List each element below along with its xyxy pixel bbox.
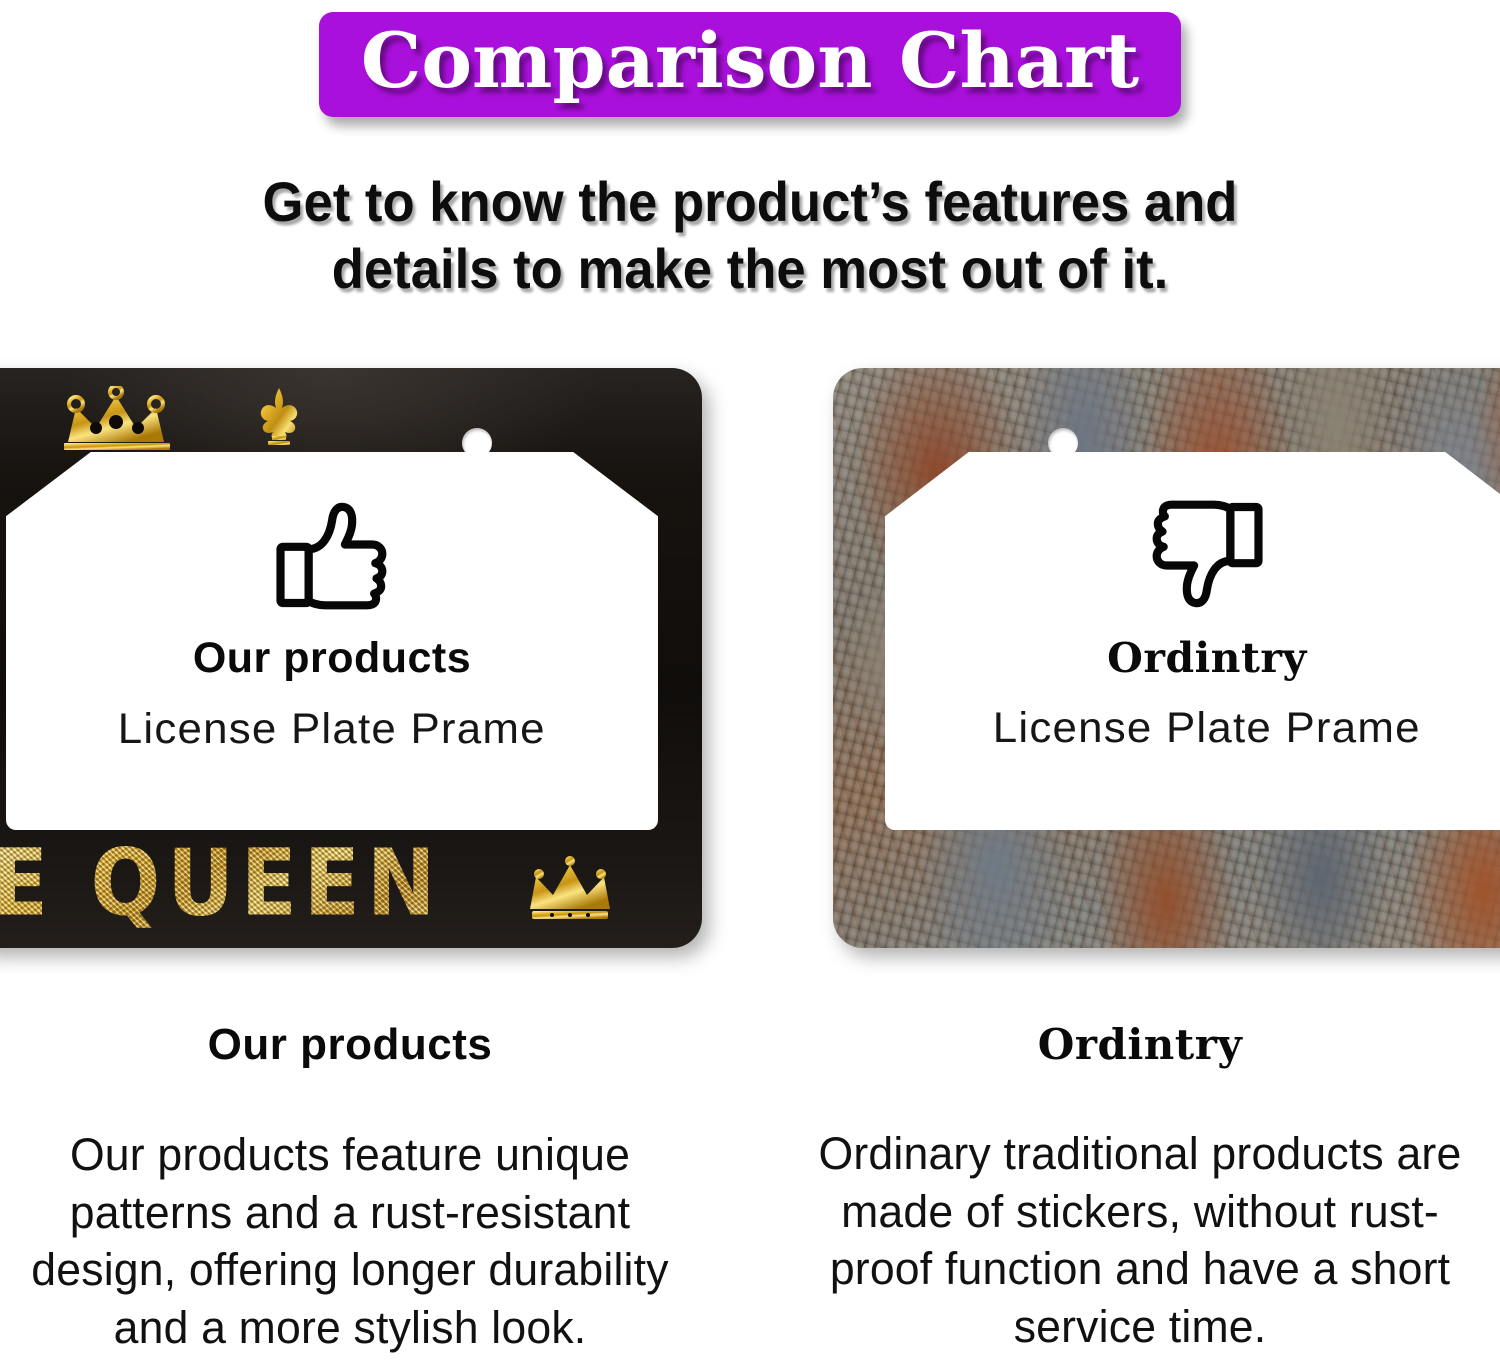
gold-ornament-row bbox=[0, 386, 702, 448]
product-frames-row: Our products License Plate Prame E QUEEN bbox=[0, 368, 1500, 958]
queen-text-band: E QUEEN bbox=[0, 840, 702, 936]
right-description-column: Ordintry Ordinary traditional products a… bbox=[790, 1020, 1490, 1355]
frame-surface-rust: Ordintry License Plate Prame bbox=[833, 368, 1500, 948]
crown-icon bbox=[50, 386, 200, 452]
title-banner-wrap: Comparison Chart bbox=[0, 12, 1500, 117]
descriptions-row: Our products Our products feature unique… bbox=[0, 1020, 1500, 1364]
left-window-title: Our products bbox=[193, 634, 471, 683]
license-plate-window-left: Our products License Plate Prame bbox=[6, 452, 658, 830]
our-product-frame: Our products License Plate Prame E QUEEN bbox=[0, 368, 702, 948]
fleur-de-lis-icon bbox=[0, 386, 10, 448]
subtitle-line-1: Get to know the product’s features and bbox=[263, 170, 1238, 233]
thumbs-up-icon bbox=[273, 500, 391, 610]
right-window-subtitle: License Plate Prame bbox=[993, 704, 1421, 753]
ordinary-product-frame: Ordintry License Plate Prame bbox=[833, 368, 1500, 948]
subtitle-line-2: details to make the most out of it. bbox=[45, 235, 1455, 302]
comparison-chart-page: Comparison Chart Get to know the product… bbox=[0, 0, 1500, 1364]
frame-brand-text: E QUEEN bbox=[0, 838, 443, 930]
page-subtitle: Get to know the product’s features and d… bbox=[45, 168, 1455, 302]
left-window-subtitle: License Plate Prame bbox=[118, 705, 546, 754]
queen-crown-icon bbox=[522, 851, 618, 928]
title-banner: Comparison Chart bbox=[319, 12, 1181, 117]
left-description-column: Our products Our products feature unique… bbox=[0, 1020, 700, 1356]
right-column-heading: Ordintry bbox=[790, 1020, 1490, 1069]
page-title: Comparison Chart bbox=[361, 18, 1139, 103]
frame-surface-black: Our products License Plate Prame E QUEEN bbox=[0, 368, 702, 948]
left-column-description: Our products feature unique patterns and… bbox=[4, 1126, 697, 1356]
right-window-title: Ordintry bbox=[1107, 634, 1307, 682]
license-plate-window-right: Ordintry License Plate Prame bbox=[885, 452, 1500, 830]
right-column-description: Ordinary traditional products are made o… bbox=[794, 1125, 1487, 1355]
thumbs-down-icon bbox=[1148, 500, 1266, 610]
left-column-heading: Our products bbox=[0, 1020, 700, 1070]
fleur-de-lis-icon-2 bbox=[250, 386, 308, 448]
